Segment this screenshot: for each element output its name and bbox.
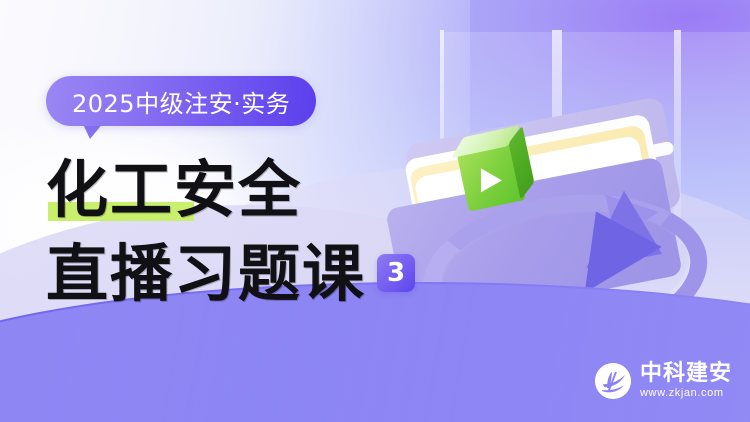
brand-logo: 中科建安 www.zkjan.com: [595, 362, 732, 400]
brand-url: www.zkjan.com: [640, 386, 732, 400]
title-block: 化工安全 直播习题课 3: [46, 152, 466, 310]
title-line-2: 直播习题课: [46, 240, 366, 308]
title-line-2-row: 直播习题课 3: [46, 238, 466, 310]
green-play-cube-icon: [455, 134, 529, 208]
brand-name: 中科建安: [640, 362, 732, 386]
title-line-1-row: 化工安全: [46, 152, 466, 224]
play-triangle-icon: [481, 168, 502, 192]
episode-number-badge: 3: [377, 254, 415, 292]
brand-logo-text: 中科建安 www.zkjan.com: [640, 362, 732, 400]
episode-number-label: 3: [387, 260, 405, 286]
zkjan-circle-logo-icon: [595, 363, 631, 399]
title-line-1: 化工安全: [46, 156, 302, 224]
course-category-label: 2025中级注安·实务: [72, 84, 290, 119]
course-category-badge: 2025中级注安·实务: [46, 76, 316, 126]
background-panel-right: [681, 32, 750, 217]
course-banner: 2025中级注安·实务 化工安全 直播习题课 3 中科建安 www: [0, 0, 750, 422]
